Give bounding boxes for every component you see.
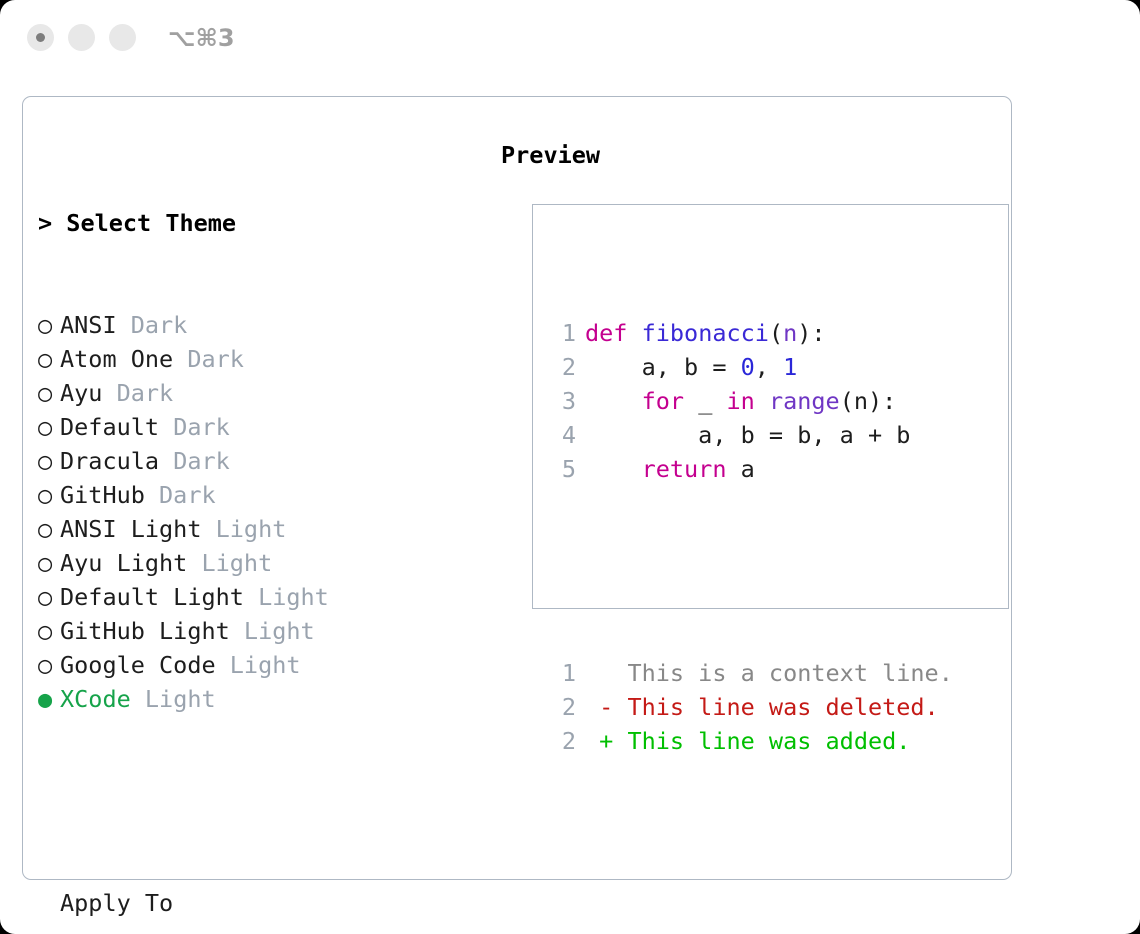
code-token-kw: for	[642, 387, 684, 415]
theme-option-variant: Light	[244, 583, 329, 611]
theme-option-atom-one[interactable]: ○Atom One Dark	[38, 342, 488, 376]
radio-unselected-icon: ○	[38, 478, 60, 512]
theme-option-variant: Dark	[145, 481, 216, 509]
window-dot-2-icon[interactable]	[68, 24, 95, 51]
code-token-var: n	[783, 319, 797, 347]
line-number: 3	[550, 384, 576, 418]
code-token-plain	[585, 455, 642, 483]
theme-option-label: Google Code	[60, 651, 216, 679]
window-dot-active-icon[interactable]	[27, 24, 54, 51]
theme-option-google-code[interactable]: ○Google Code Light	[38, 648, 488, 682]
app-window: ⌥⌘3 > Select Theme ○ANSI Dark○Atom One D…	[0, 0, 1140, 934]
radio-unselected-icon: ○	[38, 614, 60, 648]
preview-heading: Preview	[501, 138, 1001, 172]
theme-option-ayu-light[interactable]: ○Ayu Light Light	[38, 546, 488, 580]
theme-option-label: Default Light	[60, 583, 244, 611]
theme-option-github-light[interactable]: ○GitHub Light Light	[38, 614, 488, 648]
code-line: 5 return a	[550, 452, 953, 486]
theme-option-dracula[interactable]: ○Dracula Dark	[38, 444, 488, 478]
preview-panel: Preview 1def fibonacci(n):2 a, b = 0, 13…	[501, 138, 1001, 172]
theme-option-github[interactable]: ○GitHub Dark	[38, 478, 488, 512]
preview-code: 1def fibonacci(n):2 a, b = 0, 13 for _ i…	[550, 248, 953, 826]
theme-option-ansi-light[interactable]: ○ANSI Light Light	[38, 512, 488, 546]
radio-unselected-icon: ○	[38, 308, 60, 342]
radio-selected-icon: ●	[38, 682, 60, 716]
window-dot-inner	[36, 33, 45, 42]
line-number: 1	[550, 316, 576, 350]
code-token-plain	[627, 319, 641, 347]
code-token-plain: a, b =	[585, 353, 741, 381]
code-token-num: 0	[741, 353, 755, 381]
radio-unselected-icon: ○	[38, 342, 60, 376]
line-number: 2	[550, 690, 576, 724]
code-token-plain: (	[769, 319, 783, 347]
radio-unselected-icon: ○	[38, 410, 60, 444]
theme-option-label: GitHub	[60, 481, 145, 509]
line-number: 2	[550, 724, 576, 758]
radio-unselected-icon: ○	[38, 546, 60, 580]
code-token-plain	[755, 387, 769, 415]
theme-list-panel: > Select Theme ○ANSI Dark○Atom One Dark○…	[38, 138, 488, 934]
diff-line-text: + This line was added.	[585, 727, 910, 755]
theme-option-variant: Light	[230, 617, 315, 645]
diff-sample: 1 This is a context line.2 - This line w…	[550, 656, 953, 758]
diff-line: 2 - This line was deleted.	[550, 690, 953, 724]
theme-list: ○ANSI Dark○Atom One Dark○Ayu Dark○Defaul…	[38, 308, 488, 716]
line-number: 2	[550, 350, 576, 384]
theme-option-xcode[interactable]: ●XCode Light	[38, 682, 488, 716]
code-diff-separator	[550, 554, 953, 588]
code-line: 4 a, b = b, a + b	[550, 418, 953, 452]
radio-unselected-icon: ○	[38, 512, 60, 546]
theme-option-variant: Light	[201, 515, 286, 543]
theme-option-label: XCode	[60, 685, 131, 713]
radio-unselected-icon: ○	[38, 444, 60, 478]
theme-option-variant: Dark	[159, 413, 230, 441]
diff-line-text: This is a context line.	[585, 659, 953, 687]
apply-to-heading: Apply To	[38, 886, 488, 920]
diff-line: 1 This is a context line.	[550, 656, 953, 690]
radio-unselected-icon: ○	[38, 648, 60, 682]
code-token-kw: def	[585, 319, 627, 347]
theme-option-variant: Dark	[102, 379, 173, 407]
code-line: 2 a, b = 0, 1	[550, 350, 953, 384]
theme-option-ansi[interactable]: ○ANSI Dark	[38, 308, 488, 342]
theme-option-variant: Light	[187, 549, 272, 577]
list-spacer	[38, 784, 488, 818]
theme-option-variant: Dark	[159, 447, 230, 475]
theme-option-label: ANSI Light	[60, 515, 201, 543]
code-token-plain	[585, 387, 642, 415]
code-line: 1def fibonacci(n):	[550, 316, 953, 350]
keyboard-shortcut-label: ⌥⌘3	[168, 22, 235, 54]
code-token-var: range	[769, 387, 840, 415]
code-token-plain: (n):	[840, 387, 897, 415]
window-controls	[27, 24, 136, 51]
code-token-plain: a	[726, 455, 754, 483]
radio-unselected-icon: ○	[38, 580, 60, 614]
diff-line-text: - This line was deleted.	[585, 693, 939, 721]
theme-option-label: Ayu Light	[60, 549, 187, 577]
code-token-fn: fibonacci	[642, 319, 769, 347]
theme-option-variant: Dark	[117, 311, 188, 339]
code-token-plain: a, b = b, a + b	[585, 421, 910, 449]
line-number: 1	[550, 656, 576, 690]
theme-option-label: Ayu	[60, 379, 102, 407]
code-sample: 1def fibonacci(n):2 a, b = 0, 13 for _ i…	[550, 316, 953, 486]
theme-option-variant: Light	[216, 651, 301, 679]
theme-option-variant: Light	[131, 685, 216, 713]
theme-option-label: Dracula	[60, 447, 159, 475]
theme-option-default-light[interactable]: ○Default Light Light	[38, 580, 488, 614]
line-number: 5	[550, 452, 576, 486]
theme-picker-card: > Select Theme ○ANSI Dark○Atom One Dark○…	[22, 96, 1012, 880]
code-token-kw: in	[727, 387, 755, 415]
theme-option-ayu[interactable]: ○Ayu Dark	[38, 376, 488, 410]
code-line: 3 for _ in range(n):	[550, 384, 953, 418]
theme-option-label: Atom One	[60, 345, 173, 373]
radio-unselected-icon: ○	[38, 376, 60, 410]
code-token-plain: ,	[755, 353, 783, 381]
code-token-kw: return	[642, 455, 727, 483]
line-number: 4	[550, 418, 576, 452]
code-token-plain: ):	[797, 319, 825, 347]
diff-line: 2 + This line was added.	[550, 724, 953, 758]
theme-option-default[interactable]: ○Default Dark	[38, 410, 488, 444]
window-titlebar: ⌥⌘3	[0, 0, 1140, 78]
select-theme-heading: > Select Theme	[38, 206, 488, 240]
window-dot-3-icon[interactable]	[109, 24, 136, 51]
code-token-plain: _	[684, 387, 726, 415]
code-token-num: 1	[783, 353, 797, 381]
preview-box: 1def fibonacci(n):2 a, b = 0, 13 for _ i…	[532, 204, 1009, 609]
theme-option-variant: Dark	[173, 345, 244, 373]
theme-option-label: GitHub Light	[60, 617, 230, 645]
theme-option-label: Default	[60, 413, 159, 441]
theme-option-label: ANSI	[60, 311, 117, 339]
